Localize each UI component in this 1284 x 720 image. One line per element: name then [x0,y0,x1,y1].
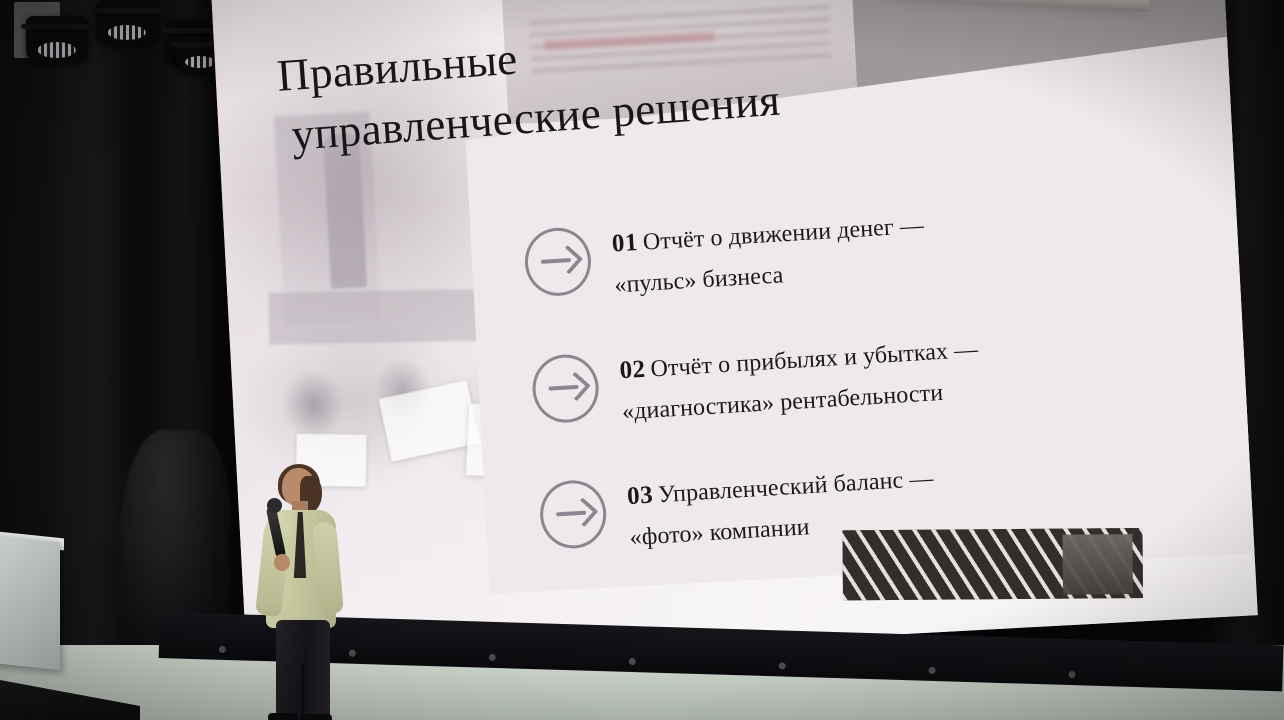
list-item-text: 01Отчёт о движении денег — «пульс» бизне… [611,204,928,307]
list-item-text: 03Управленческий баланс — «фото» компани… [626,457,937,560]
presenter [252,468,348,720]
arrow-right-circle-icon [523,226,593,298]
projection-screen: Правильные управленческие решения 01Отчё… [210,0,1258,669]
list-item-number: 03 [626,482,654,511]
list-item-line2: «диагностика» рентабельности [621,380,944,425]
lectern [0,534,60,670]
slide-bullet-list: 01Отчёт о движении денег — «пульс» бизне… [523,191,1165,607]
list-item-number: 01 [611,229,639,258]
list-item-number: 02 [619,355,647,384]
arrow-right-circle-icon [538,479,608,551]
list-item: 02Отчёт о прибылях и убытках — «диагност… [530,317,1154,439]
arrow-right-circle-icon [531,352,601,424]
list-item-line2: «фото» компании [629,515,810,552]
list-item: 03Управленческий баланс — «фото» компани… [538,443,1162,565]
list-item-line1: Отчёт о прибылях и убытках — [650,336,979,382]
list-item-text: 02Отчёт о прибылях и убытках — «диагност… [618,327,982,433]
stage-scene: Правильные управленческие решения 01Отчё… [0,0,1284,720]
list-item-line1: Управленческий баланс — [657,466,934,509]
list-item-line1: Отчёт о движении денег — [642,213,925,256]
list-item-line2: «пульс» бизнеса [614,263,784,299]
